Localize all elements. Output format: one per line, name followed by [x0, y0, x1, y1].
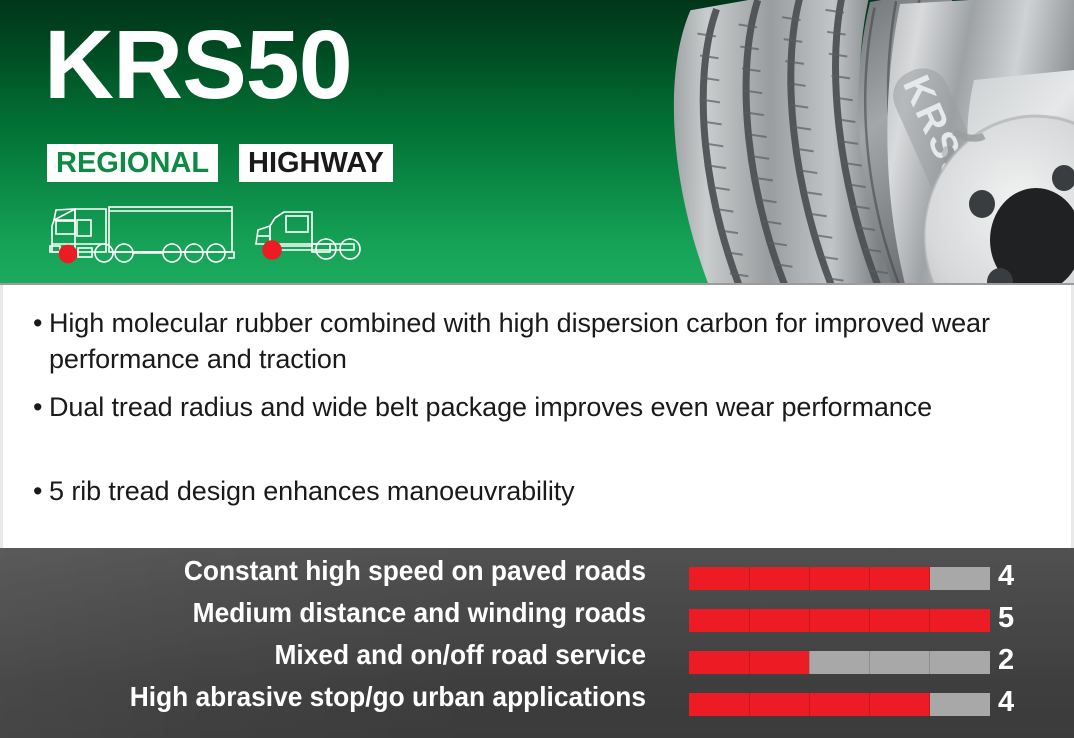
- rating-label: Medium distance and winding roads: [48, 598, 646, 628]
- feature-list: • High molecular rubber combined with hi…: [0, 285, 1074, 548]
- rating-row: Medium distance and winding roads 5: [0, 590, 1074, 634]
- rating-row: Constant high speed on paved roads 4: [0, 548, 1074, 592]
- feature-text: Dual tread radius and wide belt package …: [49, 389, 932, 425]
- bullet-icon: •: [33, 305, 49, 341]
- bullet-icon: •: [33, 389, 49, 425]
- rating-bar-track: [689, 567, 990, 590]
- rating-label: Constant high speed on paved roads: [48, 556, 646, 586]
- rating-bar-track: [689, 693, 990, 716]
- rating-label: Mixed and on/off road service: [48, 640, 646, 670]
- badge-regional: REGIONAL: [47, 144, 218, 182]
- application-ratings-panel: Constant high speed on paved roads 4 Med…: [0, 548, 1074, 738]
- rating-label: High abrasive stop/go urban applications: [48, 682, 646, 712]
- tractor-unit-icon: [256, 212, 360, 259]
- feature-text: 5 rib tread design enhances manoeuvrabil…: [49, 473, 575, 509]
- product-spec-sheet: KRS50: [0, 0, 1074, 738]
- rating-bar-fill: [689, 609, 990, 632]
- feature-text: High molecular rubber combined with high…: [49, 305, 1031, 377]
- rating-value: 5: [998, 602, 1038, 634]
- rating-bar-track: [689, 651, 990, 674]
- badge-highway: HIGHWAY: [239, 144, 393, 182]
- rating-row: Mixed and on/off road service 2: [0, 632, 1074, 676]
- rating-row: High abrasive stop/go urban applications…: [0, 674, 1074, 718]
- header-banner: KRS50: [0, 0, 1074, 285]
- bullet-icon: •: [33, 473, 49, 509]
- rating-value: 4: [998, 560, 1038, 592]
- tire-sidewall-label: KRS50: [894, 69, 988, 212]
- rating-value: 4: [998, 686, 1038, 718]
- page-title: KRS50: [44, 16, 352, 113]
- articulated-truck-trailer-icon: [50, 207, 234, 263]
- vehicle-icon-group: [42, 196, 382, 277]
- list-item: • Dual tread radius and wide belt packag…: [33, 389, 1031, 425]
- list-item: • High molecular rubber combined with hi…: [33, 305, 1031, 377]
- list-item: • 5 rib tread design enhances manoeuvrab…: [33, 473, 1031, 509]
- rating-value: 2: [998, 644, 1038, 676]
- rating-bar-track: [689, 609, 990, 632]
